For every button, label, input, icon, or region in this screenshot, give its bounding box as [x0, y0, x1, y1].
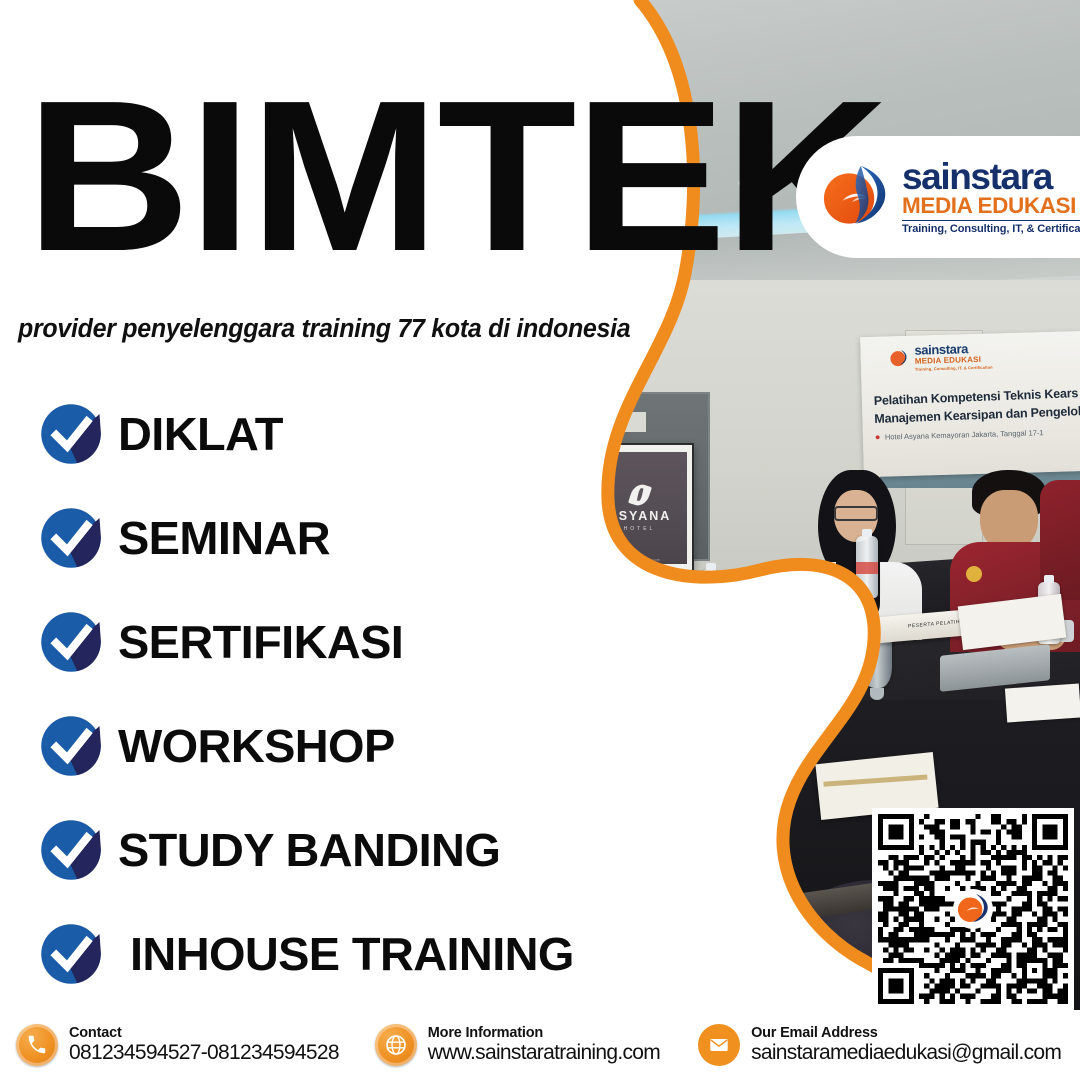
service-item: SERTIFIKASI — [40, 590, 700, 694]
envelope-icon — [698, 1024, 740, 1066]
service-item-label: SEMINAR — [118, 511, 330, 565]
footer-item-label: Contact — [69, 1025, 339, 1041]
service-list: DIKLAT SEMINAR SERTIFIKASI WORKSHOP STUD… — [40, 382, 700, 1006]
footer-item-value[interactable]: sainstaramediaedukasi@gmail.com — [751, 1041, 1061, 1065]
check-circle-icon — [40, 611, 102, 673]
brand-divider — [902, 220, 1080, 222]
service-item-label: STUDY BANDING — [118, 823, 500, 877]
check-circle-icon — [40, 507, 102, 569]
service-item: INHOUSE TRAINING — [40, 902, 700, 1006]
service-item: WORKSHOP — [40, 694, 700, 798]
footer-item-value[interactable]: www.sainstaratraining.com — [428, 1041, 660, 1065]
brand-sub: MEDIA EDUKASI — [902, 194, 1080, 218]
check-circle-icon — [40, 715, 102, 777]
left-content: BIMTEK provider penyelenggara training 7… — [0, 0, 700, 1080]
check-circle-icon — [40, 403, 102, 465]
qr-center-logo — [953, 889, 993, 929]
check-circle-icon — [40, 923, 102, 985]
brand-tagline: Training, Consulting, IT, & Certificatio… — [902, 223, 1080, 235]
check-circle-icon — [40, 715, 102, 777]
footer-item-label: More Information — [428, 1025, 660, 1041]
footer-item-email[interactable]: Our Email Addresssainstaramediaedukasi@g… — [698, 1024, 1061, 1066]
footer-item-label: Our Email Address — [751, 1025, 1061, 1041]
poster-canvas: sainstara MEDIA EDUKASI Training, Consul… — [0, 0, 1080, 1080]
sainstara-flame-icon — [818, 160, 892, 234]
check-circle-icon — [40, 507, 102, 569]
footer-item-value[interactable]: 081234594527-081234594528 — [69, 1041, 339, 1065]
footer-item-contact[interactable]: Contact081234594527-081234594528 — [16, 1024, 339, 1066]
check-circle-icon — [40, 923, 102, 985]
footer-item-info[interactable]: More Informationwww.sainstaratraining.co… — [375, 1024, 660, 1066]
service-item-label: INHOUSE TRAINING — [130, 927, 574, 981]
service-item-label: SERTIFIKASI — [118, 615, 403, 669]
globe-icon — [375, 1024, 417, 1066]
brand-name: sainstara — [902, 159, 1080, 194]
brand-logo-badge: sainstara MEDIA EDUKASI Training, Consul… — [796, 136, 1080, 258]
qr-code[interactable] — [872, 808, 1074, 1010]
service-item: STUDY BANDING — [40, 798, 700, 902]
page-title: BIMTEK — [26, 84, 887, 269]
service-item: SEMINAR — [40, 486, 700, 590]
footer-contact-bar: Contact081234594527-081234594528More Inf… — [0, 1010, 1080, 1080]
page-subtitle: provider penyelenggara training 77 kota … — [18, 315, 630, 344]
check-circle-icon — [40, 819, 102, 881]
phone-icon — [16, 1024, 58, 1066]
check-circle-icon — [40, 611, 102, 673]
sainstara-flame-icon — [955, 891, 991, 927]
service-item-label: WORKSHOP — [118, 719, 395, 773]
check-circle-icon — [40, 403, 102, 465]
check-circle-icon — [40, 819, 102, 881]
service-item: DIKLAT — [40, 382, 700, 486]
service-item-label: DIKLAT — [118, 407, 283, 461]
